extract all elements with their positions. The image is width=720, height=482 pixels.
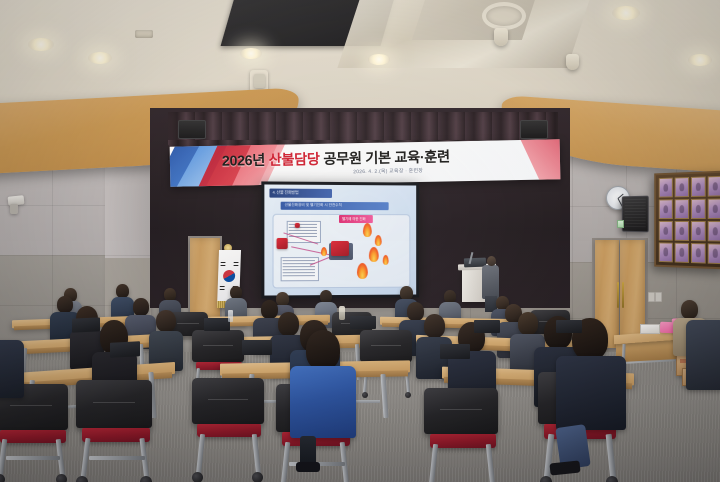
chair-caster <box>76 476 88 482</box>
speaker-grille <box>625 199 646 229</box>
flame-icon <box>383 255 389 265</box>
white-box <box>640 324 660 334</box>
presenter-body <box>482 265 499 299</box>
person-torso <box>686 320 720 390</box>
person-head <box>400 286 413 300</box>
door-handle-right[interactable] <box>622 282 624 308</box>
trigram-mark <box>220 286 225 287</box>
flame-icon <box>375 235 382 246</box>
portrait <box>675 177 690 198</box>
flame-icon <box>363 223 372 237</box>
portrait <box>675 242 690 263</box>
person-head <box>276 292 289 306</box>
chair-brace <box>89 456 145 460</box>
person-torso <box>556 356 626 430</box>
light-switch[interactable] <box>648 292 655 302</box>
chair-caster <box>405 392 411 398</box>
chair-caster <box>192 472 203 482</box>
exit-sign <box>617 220 624 228</box>
taeguk-symbol <box>223 270 235 282</box>
portrait <box>675 199 690 219</box>
slide-header-label: 4. 산불 진화방법 <box>273 190 299 196</box>
laptop-screen <box>110 341 140 358</box>
downlight-icon <box>688 54 712 66</box>
portrait <box>659 221 673 241</box>
chair-caster <box>362 392 368 398</box>
person-torso-blue-jacket <box>290 366 356 438</box>
chair-caster <box>606 476 618 482</box>
portrait <box>659 242 673 262</box>
ceiling-vent <box>482 2 526 30</box>
chair-caster <box>56 474 67 482</box>
slide-equipment-red-small <box>277 238 288 249</box>
chair-brace <box>6 456 60 460</box>
portrait <box>707 243 720 264</box>
flame-icon <box>369 247 379 262</box>
portrait <box>659 199 673 219</box>
trigram-mark <box>220 288 225 289</box>
portrait-grid <box>659 176 720 264</box>
chair-back <box>192 378 264 424</box>
light-switch[interactable] <box>655 292 662 302</box>
wall-camera-mount <box>10 204 18 214</box>
chair-back <box>424 388 498 434</box>
chair-caster <box>140 476 152 482</box>
door-handle-left[interactable] <box>617 282 619 308</box>
person-head <box>261 300 278 319</box>
water-bottle <box>339 306 345 320</box>
projection-screen: 4. 산불 진화방법 산불진화장비 및 헬기진화 시 안전수칙 헬기에 의한 진… <box>264 184 416 295</box>
slide-marker <box>295 223 300 228</box>
laptop-screen <box>242 340 272 355</box>
ceiling-projector <box>494 28 508 46</box>
downlight-icon <box>368 54 390 65</box>
laptop-screen <box>350 316 376 329</box>
chair-caster <box>252 472 263 482</box>
person-head <box>306 330 340 370</box>
downlight-icon <box>612 6 640 20</box>
banner-rest: 공무원 기본 교육·훈련 <box>323 149 450 167</box>
flame-icon <box>321 247 327 256</box>
person-torso <box>0 340 24 398</box>
portrait <box>707 176 720 197</box>
downlight-icon <box>240 48 262 59</box>
portrait <box>691 221 706 242</box>
portrait <box>675 221 690 241</box>
event-banner: 2026년 산불담당 공무원 기본 교육·훈련 2026. 4. 2.(목) 교… <box>170 139 561 186</box>
flame-icon <box>357 263 368 279</box>
portrait <box>691 176 706 197</box>
laptop-screen <box>474 320 500 333</box>
trigram-mark <box>234 262 239 263</box>
person-head <box>156 310 176 332</box>
slide-pink-label: 헬기에 의한 진화 <box>342 216 366 221</box>
trigram-mark <box>221 262 226 263</box>
ceiling-vent <box>135 30 153 38</box>
projector-lens-icon <box>254 74 265 88</box>
trigram-mark <box>233 265 238 266</box>
person-head <box>278 312 299 336</box>
stage-speaker-right <box>520 120 548 139</box>
person-head <box>57 296 73 313</box>
laptop-screen <box>556 320 582 333</box>
door-left-side[interactable] <box>190 238 220 320</box>
slide-note-text-bottom <box>283 260 315 277</box>
ceiling-spotlight <box>566 54 579 70</box>
person-head <box>407 302 424 321</box>
slide-equipment-red-large <box>331 241 349 256</box>
chair-back <box>192 330 244 362</box>
person-head <box>518 312 538 335</box>
chair-back <box>360 330 412 362</box>
banner-highlight: 산불담당 <box>269 152 320 169</box>
portrait <box>691 199 706 220</box>
person-head <box>133 298 149 316</box>
person-shoe <box>296 462 320 472</box>
water-bottle <box>228 310 233 322</box>
slide-subheader-label: 산불진화장비 및 헬기진화 시 안전수칙 <box>285 203 342 208</box>
chair-caster <box>540 476 552 482</box>
stage-speaker-left <box>178 120 206 139</box>
portrait <box>691 243 706 264</box>
laptop-screen <box>440 344 470 359</box>
portrait <box>707 198 720 219</box>
portrait <box>659 178 673 198</box>
laptop-screen <box>72 317 100 332</box>
laptop-screen <box>204 318 230 331</box>
wall-speaker <box>622 196 649 233</box>
auditorium-photo: 2026년 산불담당 공무원 기본 교육·훈련 2026. 4. 2.(목) 교… <box>0 0 720 482</box>
person-head <box>681 300 698 319</box>
framed-portrait-board <box>654 170 720 269</box>
chair-back <box>76 380 152 428</box>
presenter-head <box>487 256 496 266</box>
downlight-icon <box>28 38 54 51</box>
person-head <box>116 284 129 298</box>
person-head <box>424 314 445 338</box>
projection-screen-frame: 4. 산불 진화방법 산불진화장비 및 헬기진화 시 안전수칙 헬기에 의한 진… <box>261 181 419 298</box>
portrait <box>707 221 720 242</box>
banner-year: 2026년 <box>222 153 265 170</box>
trigram-mark <box>220 265 225 266</box>
downlight-icon <box>88 52 112 64</box>
